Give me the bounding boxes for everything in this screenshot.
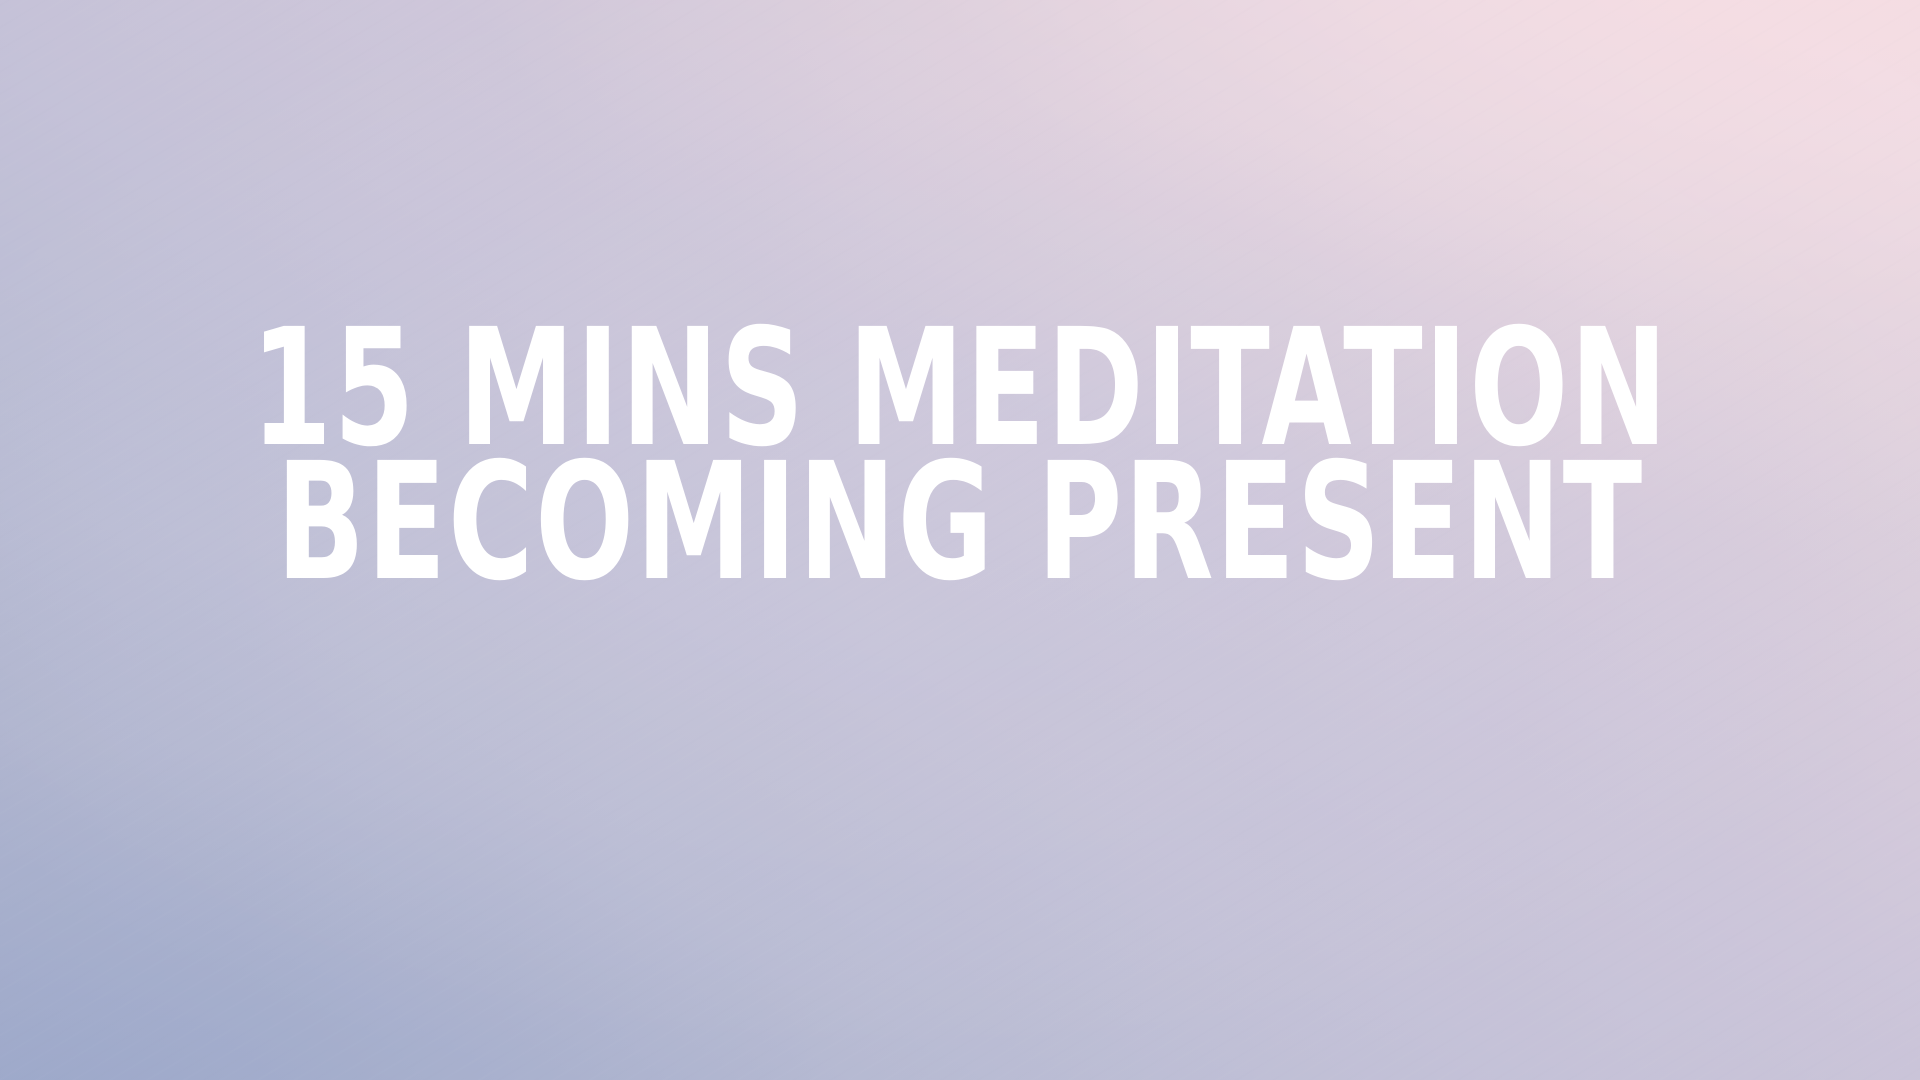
title-block: 15 MINS MEDITATION BECOMING PRESENT (0, 322, 1920, 590)
title-line-secondary: BECOMING PRESENT (192, 456, 1728, 590)
title-card-slide: 15 MINS MEDITATION BECOMING PRESENT (0, 0, 1920, 1080)
